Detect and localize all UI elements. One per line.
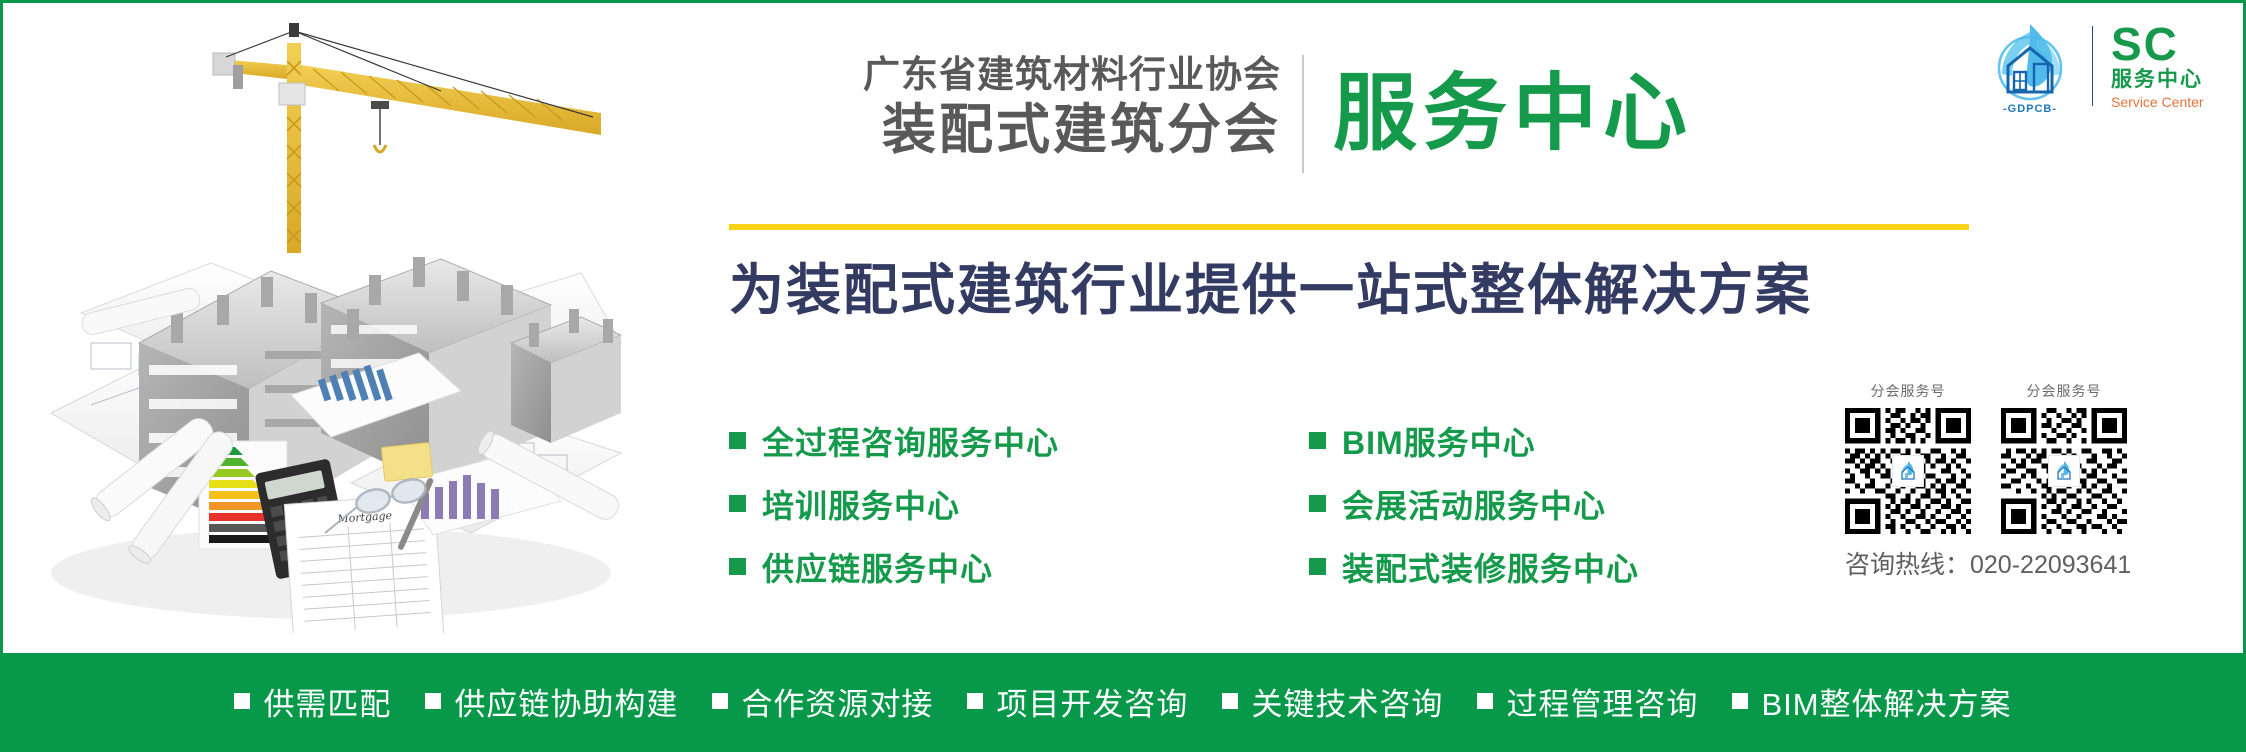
qr-caption: 分会服务号 [1999, 381, 2129, 401]
square-bullet-icon [1732, 693, 1748, 709]
gdpcb-flame-house-icon [1978, 18, 2082, 106]
brand-logo-divider [2092, 26, 2093, 106]
service-item-label: 培训服务中心 [762, 481, 960, 527]
bottom-item-label: 供需匹配 [263, 679, 391, 724]
service-column-left: 全过程咨询服务中心 培训服务中心 供应链服务中心 [729, 409, 1309, 598]
brand-logo: -GDPCB- SC 服务中心 Service Center [1978, 17, 2228, 115]
sc-letters: SC [2111, 21, 2204, 67]
promo-banner: Mortgage [0, 0, 2246, 752]
square-bullet-icon [234, 693, 250, 709]
list-item[interactable]: BIM服务中心 [1309, 409, 1809, 472]
page-title: 服务中心 [1333, 61, 1693, 165]
square-bullet-icon [1309, 432, 1326, 449]
service-item-label: 会展活动服务中心 [1342, 481, 1606, 527]
sc-logo-mark: SC 服务中心 Service Center [2111, 21, 2204, 111]
association-name-line-2: 装配式建筑分会 [841, 99, 1281, 161]
square-bullet-icon [1477, 693, 1493, 709]
qr-contact-block: 分会服务号 [1843, 381, 2223, 581]
hotline-text: 咨询热线：020-22093641 [1845, 545, 2223, 581]
main-slogan: 为装配式建筑行业提供一站式整体解决方案 [729, 255, 1812, 325]
square-bullet-icon [1309, 495, 1326, 512]
square-bullet-icon [967, 693, 983, 709]
bottom-item-label: BIM整体解决方案 [1761, 679, 2011, 724]
yellow-divider [729, 224, 1969, 230]
sc-chinese-label: 服务中心 [2111, 67, 2204, 93]
construction-hero-image: Mortgage [21, 13, 641, 633]
service-center-lists: 全过程咨询服务中心 培训服务中心 供应链服务中心 BIM服务中心 会展活动服务中… [729, 409, 1809, 598]
bottom-item-label: 过程管理咨询 [1506, 679, 1698, 724]
list-item[interactable]: 供应链服务中心 [729, 535, 1309, 598]
gdpcb-logo-mark: -GDPCB- [1978, 18, 2082, 114]
gdpcb-abbreviation-label: -GDPCB- [1978, 103, 2082, 115]
service-item-label: 装配式装修服务中心 [1342, 544, 1639, 590]
list-item[interactable]: 项目开发咨询 [967, 679, 1188, 724]
square-bullet-icon [729, 432, 746, 449]
service-item-label: 全过程咨询服务中心 [762, 418, 1059, 464]
bottom-services-bar: 供需匹配 供应链协助构建 合作资源对接 项目开发咨询 关键技术咨询 过程管理咨询… [3, 653, 2243, 749]
bottom-item-label: 供应链协助构建 [454, 679, 678, 724]
gdpcb-mark-icon [1896, 459, 1920, 483]
list-item[interactable]: BIM整体解决方案 [1732, 679, 2011, 724]
sticky-note [381, 443, 432, 482]
header-vertical-divider [1302, 55, 1304, 173]
qr-center-logo [2048, 455, 2080, 487]
list-item[interactable]: 供需匹配 [234, 679, 391, 724]
list-item[interactable]: 过程管理咨询 [1477, 679, 1698, 724]
bottom-item-label: 关键技术咨询 [1251, 679, 1443, 724]
tower-crane-icon [213, 23, 601, 253]
association-name-line-1: 广东省建筑材料行业协会 [841, 51, 1281, 99]
qr-code-icon[interactable] [1845, 408, 1971, 534]
service-item-label: BIM服务中心 [1342, 418, 1536, 464]
square-bullet-icon [1309, 558, 1326, 575]
association-name-block: 广东省建筑材料行业协会 装配式建筑分会 [841, 51, 1281, 161]
bottom-item-label: 合作资源对接 [741, 679, 933, 724]
qr-caption: 分会服务号 [1843, 381, 1973, 401]
building-model-icon: Mortgage [21, 13, 641, 633]
list-item[interactable]: 合作资源对接 [712, 679, 933, 724]
gdpcb-mark-icon [2052, 459, 2076, 483]
qr-center-logo [1892, 455, 1924, 487]
list-item[interactable]: 关键技术咨询 [1222, 679, 1443, 724]
service-item-label: 供应链服务中心 [762, 544, 993, 590]
square-bullet-icon [729, 558, 746, 575]
square-bullet-icon [712, 693, 728, 709]
qr-card: 分会服务号 [1999, 381, 2129, 534]
service-column-right: BIM服务中心 会展活动服务中心 装配式装修服务中心 [1309, 409, 1809, 598]
square-bullet-icon [1222, 693, 1238, 709]
sc-english-label: Service Center [2111, 93, 2204, 111]
list-item[interactable]: 培训服务中心 [729, 472, 1309, 535]
list-item[interactable]: 装配式装修服务中心 [1309, 535, 1809, 598]
bottom-item-label: 项目开发咨询 [996, 679, 1188, 724]
list-item[interactable]: 全过程咨询服务中心 [729, 409, 1309, 472]
qr-code-icon[interactable] [2001, 408, 2127, 534]
qr-card: 分会服务号 [1843, 381, 1973, 534]
square-bullet-icon [729, 495, 746, 512]
list-item[interactable]: 会展活动服务中心 [1309, 472, 1809, 535]
square-bullet-icon [425, 693, 441, 709]
list-item[interactable]: 供应链协助构建 [425, 679, 678, 724]
